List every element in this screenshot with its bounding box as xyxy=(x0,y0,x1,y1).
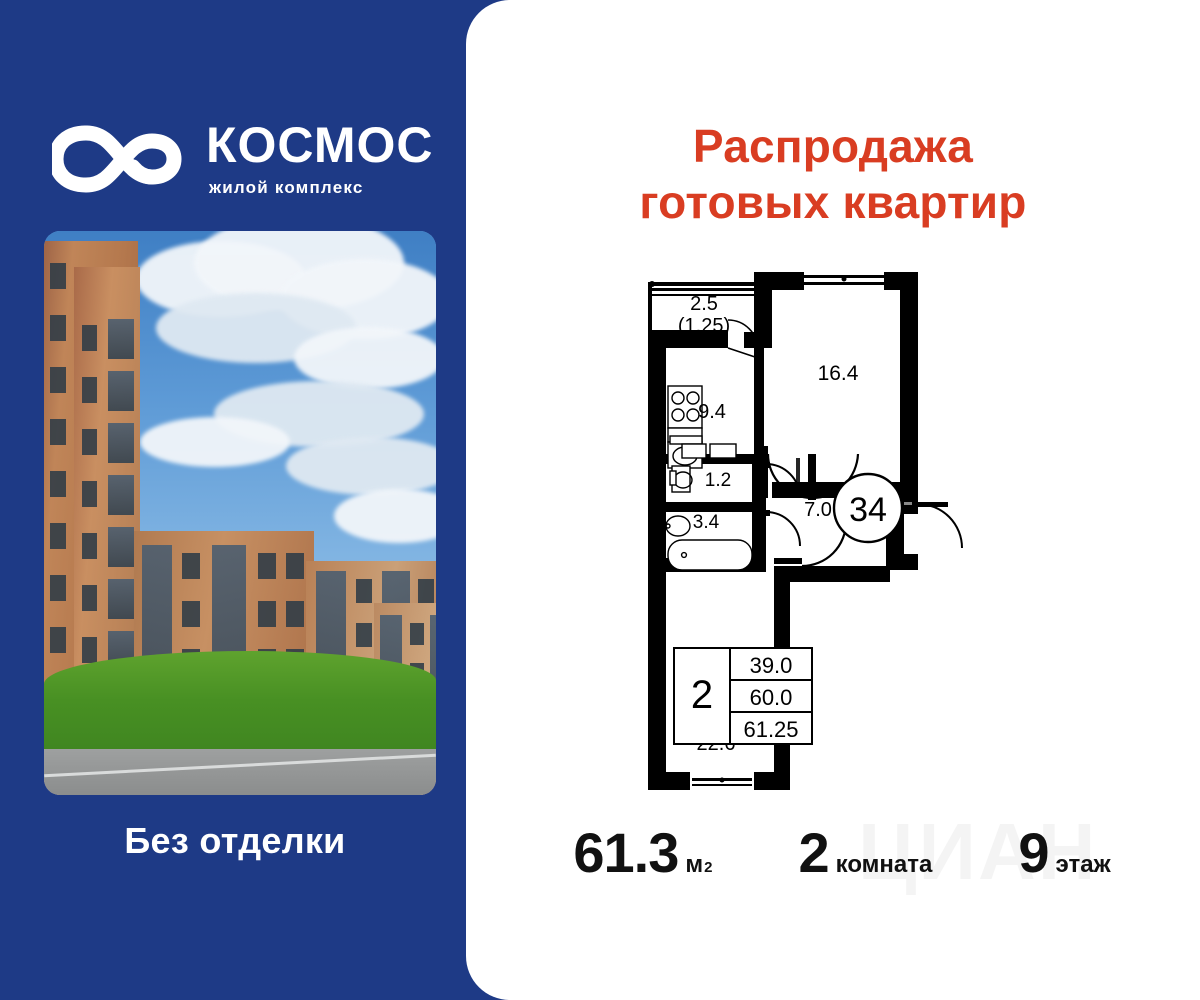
table-area-without-balcony: 60.0 xyxy=(750,685,793,710)
stat-area-value: 61.3 xyxy=(573,820,678,885)
table-area-with-balcony: 61.25 xyxy=(743,717,798,742)
cloud-shape xyxy=(140,417,290,467)
stat-area-unit: м xyxy=(685,851,703,879)
label-hall-area: 7.0 xyxy=(804,499,832,521)
apartment-number-badge: 34 xyxy=(834,474,902,542)
floorplan-container: 2.5 (1.25) 9.4 16.4 1.2 3.4 7.0 22.6 34 xyxy=(626,258,1046,798)
infinity-icon xyxy=(52,123,188,195)
label-livingroom-area: 16.4 xyxy=(818,362,859,385)
brand-subtitle: жилой комплекс xyxy=(209,178,364,198)
table-living-total: 39.0 xyxy=(750,653,793,678)
promo-headline-line2: готовых квартир xyxy=(466,174,1200,230)
label-bathroom-area: 3.4 xyxy=(693,512,720,533)
stat-rooms: 2 комната xyxy=(798,820,932,885)
cloud-shape xyxy=(294,327,436,389)
left-brand-panel: КОСМОС жилой комплекс xyxy=(0,0,470,1000)
brand-logo-block: КОСМОС жилой комплекс xyxy=(52,120,434,198)
apartment-stats-bar: 61.3 м 2 2 комната 9 этаж xyxy=(466,812,1200,892)
stat-area-superscript: 2 xyxy=(704,859,712,876)
finish-caption: Без отделки xyxy=(0,820,470,862)
building-photo xyxy=(44,231,436,795)
label-kitchen-area: 9.4 xyxy=(698,401,726,423)
content-card: Распродажа готовых квартир xyxy=(466,0,1200,1000)
table-rooms-count: 2 xyxy=(691,673,713,717)
label-toilet-area: 1.2 xyxy=(705,470,731,491)
label-balcony-coef: (1.25) xyxy=(678,315,730,337)
stat-floor-unit: этаж xyxy=(1056,851,1111,879)
area-summary-table: 2 39.0 60.0 61.25 xyxy=(674,648,812,744)
label-balcony-area: 2.5 xyxy=(690,293,718,315)
promo-headline-line1: Распродажа xyxy=(466,118,1200,174)
promo-headline: Распродажа готовых квартир xyxy=(466,118,1200,230)
floorplan-drawing: 2.5 (1.25) 9.4 16.4 1.2 3.4 7.0 22.6 34 xyxy=(626,258,1046,798)
lawn-area xyxy=(44,651,436,761)
apartment-number: 34 xyxy=(849,491,887,529)
brand-name: КОСМОС xyxy=(206,120,434,170)
brand-text-group: КОСМОС жилой комплекс xyxy=(206,120,434,198)
stat-rooms-unit: комната xyxy=(836,851,933,879)
stat-area: 61.3 м 2 xyxy=(573,820,712,885)
stat-rooms-value: 2 xyxy=(798,820,828,885)
stat-floor-value: 9 xyxy=(1018,820,1048,885)
stat-floor: 9 этаж xyxy=(1018,820,1110,885)
